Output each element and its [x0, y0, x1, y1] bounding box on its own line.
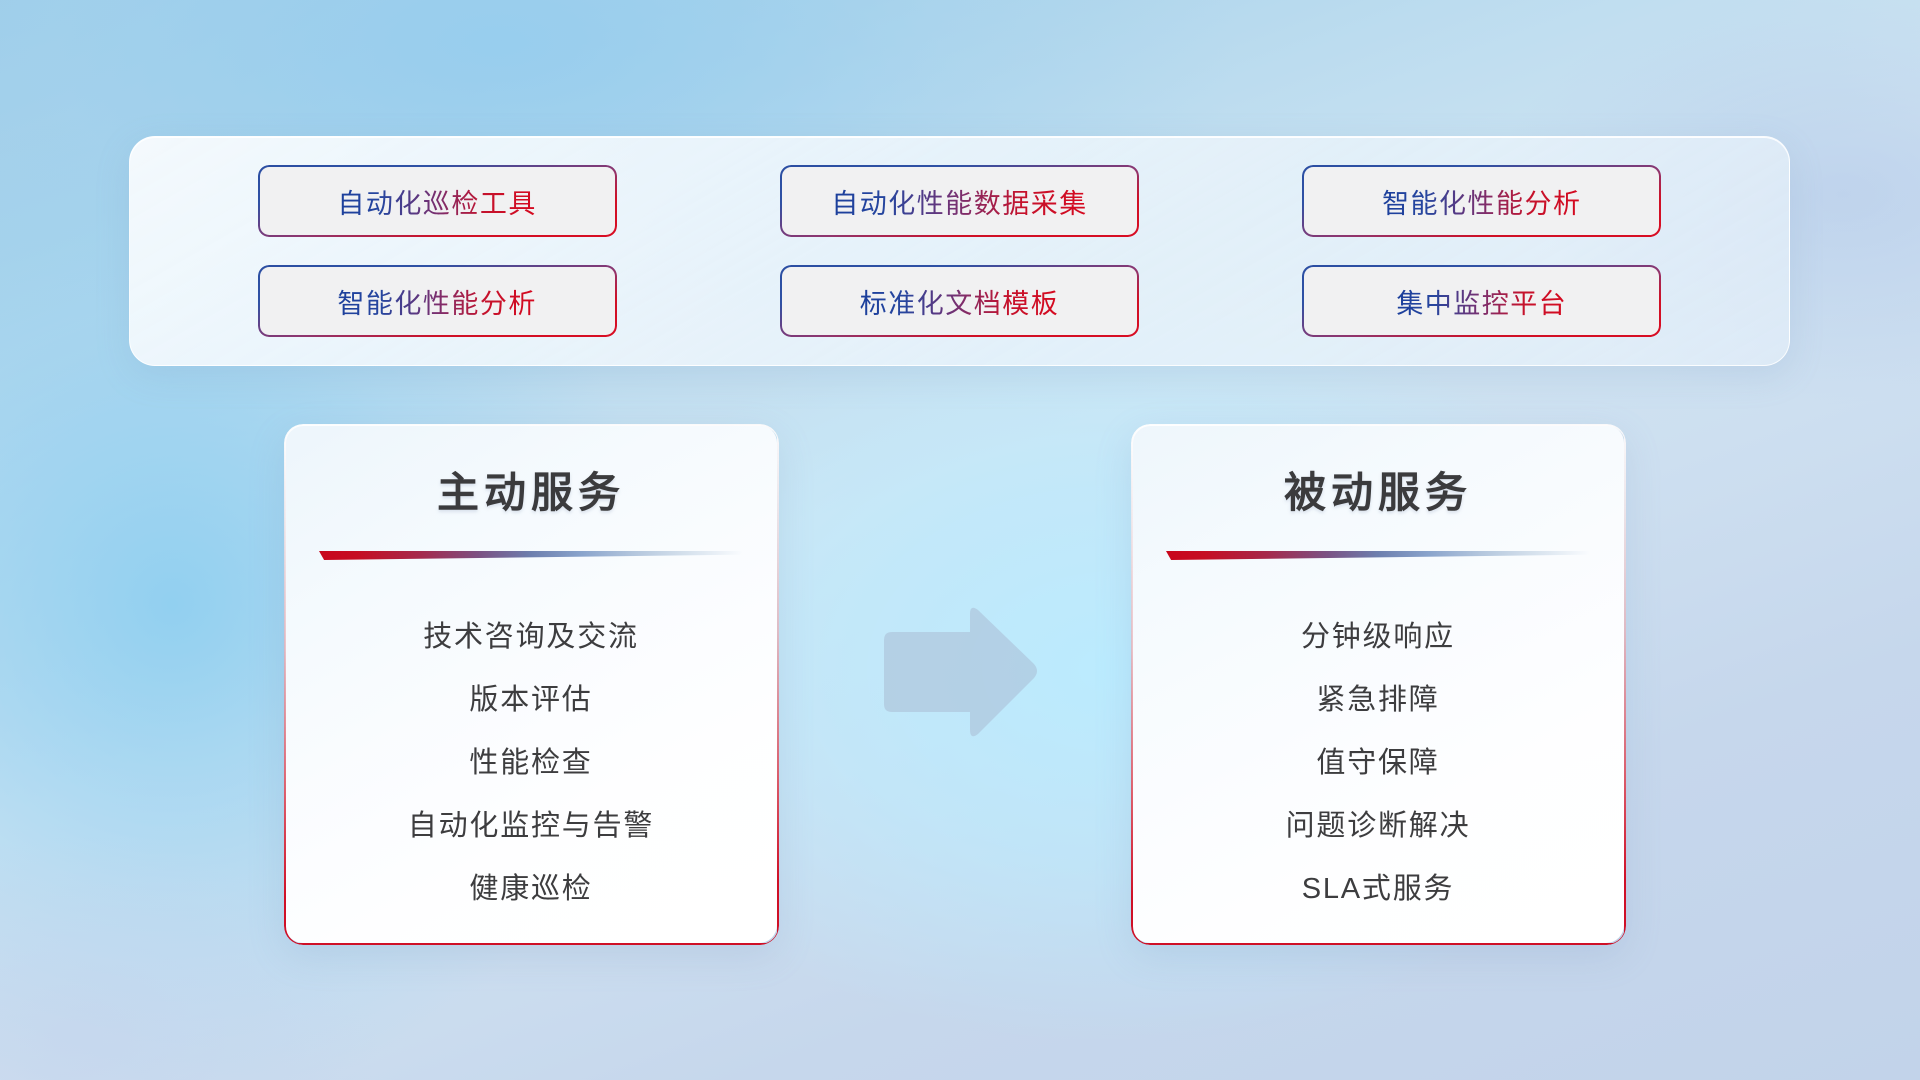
capability-pill-label: 自动化性能数据采集 — [831, 182, 1088, 221]
service-list-item[interactable]: 值守保障 — [1316, 729, 1439, 792]
service-item-list: 技术咨询及交流 版本评估 性能检查 自动化监控与告警 健康巡检 — [285, 593, 777, 917]
capability-panel: 自动化巡检工具 自动化性能数据采集 智能化性能分析 智能化性能分析 标准化文档模… — [129, 136, 1790, 366]
service-card-proactive: 主动服务 技术咨询及交流 版本评估 性能检查 自动化监控与告警 健康巡检 — [285, 425, 777, 943]
capability-pill-2[interactable]: 自动化性能数据采集 — [781, 167, 1137, 235]
right-arrow-icon — [878, 602, 1040, 742]
capability-pill-label: 智能化性能分析 — [1382, 182, 1582, 221]
card-divider — [1166, 551, 1590, 560]
capability-pill-6[interactable]: 集中监控平台 — [1304, 267, 1660, 335]
capability-pill-5[interactable]: 标准化文档模板 — [781, 267, 1137, 335]
service-list-item[interactable]: 版本评估 — [469, 666, 592, 729]
capability-pill-1[interactable]: 自动化巡检工具 — [259, 167, 615, 235]
service-list-item[interactable]: SLA式服务 — [1302, 854, 1455, 917]
capability-pill-4[interactable]: 智能化性能分析 — [259, 267, 615, 335]
service-list-item[interactable]: 紧急排障 — [1316, 666, 1439, 729]
capability-pill-3[interactable]: 智能化性能分析 — [1304, 167, 1660, 235]
capability-pill-label: 智能化性能分析 — [337, 282, 537, 321]
card-divider — [319, 551, 743, 560]
service-list-item[interactable]: 健康巡检 — [469, 854, 592, 917]
service-list-item[interactable]: 自动化监控与告警 — [408, 791, 654, 854]
card-title: 被动服务 — [1132, 459, 1624, 520]
card-title: 主动服务 — [285, 459, 777, 520]
capability-pill-label: 自动化巡检工具 — [337, 182, 537, 221]
capability-pill-label: 集中监控平台 — [1396, 282, 1567, 321]
service-list-item[interactable]: 技术咨询及交流 — [423, 603, 639, 666]
service-card-reactive: 被动服务 分钟级响应 紧急排障 值守保障 问题诊断解决 SLA式服务 — [1132, 425, 1624, 943]
service-list-item[interactable]: 分钟级响应 — [1301, 603, 1455, 666]
service-item-list: 分钟级响应 紧急排障 值守保障 问题诊断解决 SLA式服务 — [1132, 593, 1624, 917]
service-list-item[interactable]: 性能检查 — [469, 729, 592, 792]
service-list-item[interactable]: 问题诊断解决 — [1286, 791, 1471, 854]
capability-pill-label: 标准化文档模板 — [860, 282, 1060, 321]
